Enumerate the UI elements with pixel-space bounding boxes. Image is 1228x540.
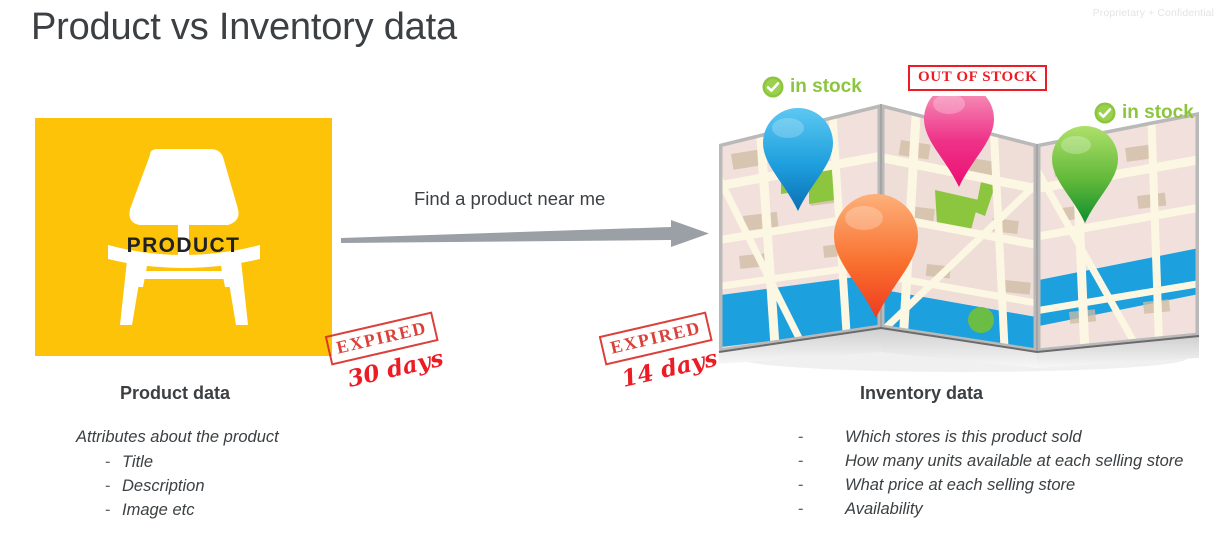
check-circle-icon [762,76,784,98]
product-image-tile: PRODUCT [35,118,332,356]
list-item-label: Which stores is this product sold [845,425,1190,449]
list-item: - How many units available at each selli… [798,449,1190,473]
list-item: - Which stores is this product sold [798,425,1190,449]
inventory-data-caption: Inventory data [860,383,983,404]
dash-marker: - [798,425,845,449]
list-item-label: How many units available at each selling… [845,449,1190,473]
check-circle-icon [1094,102,1116,124]
inventory-data-description: - Which stores is this product sold - Ho… [790,425,1190,521]
list-item-label: Availability [845,497,1190,521]
list-item-label: What price at each selling store [845,473,1190,497]
out-of-stock-stamp: OUT OF STOCK [908,65,1047,91]
product-data-description: Attributes about the product - Title - D… [76,425,406,522]
dash-marker: - [798,449,845,473]
in-stock-badge-right: in stock [1094,102,1194,124]
product-data-caption: Product data [120,383,230,404]
list-item: - Title [105,450,406,474]
expired-stamp-product: EXPIRED 30 days [324,306,458,416]
list-item: - Description [105,474,406,498]
expired-stamp-inventory: EXPIRED 14 days [598,306,732,416]
inventory-bullet-list: - Which stores is this product sold - Ho… [790,425,1190,521]
list-item-label: Description [122,474,406,498]
list-item: - Image etc [105,498,406,522]
list-item-label: Title [122,450,406,474]
page-title: Product vs Inventory data [31,6,457,49]
list-item-label: Image etc [122,498,406,522]
in-stock-label: in stock [1122,102,1194,124]
product-tile-label: PRODUCT [127,234,241,258]
product-lead-text: Attributes about the product [76,425,406,449]
dash-marker: - [105,498,122,522]
flow-arrow [341,218,711,250]
product-bullet-list: - Title - Description - Image etc [76,450,406,522]
list-item: - Availability [798,497,1190,521]
folded-map-illustration [713,96,1205,376]
in-stock-label: in stock [790,76,862,98]
list-item: - What price at each selling store [798,473,1190,497]
in-stock-badge-left: in stock [762,76,862,98]
dash-marker: - [798,497,845,521]
arrow-label: Find a product near me [414,188,605,210]
dash-marker: - [798,473,845,497]
confidential-notice: Proprietary + Confidential [1093,7,1214,19]
dash-marker: - [105,450,122,474]
dash-marker: - [105,474,122,498]
slide-canvas: Proprietary + Confidential Product vs In… [0,0,1228,540]
